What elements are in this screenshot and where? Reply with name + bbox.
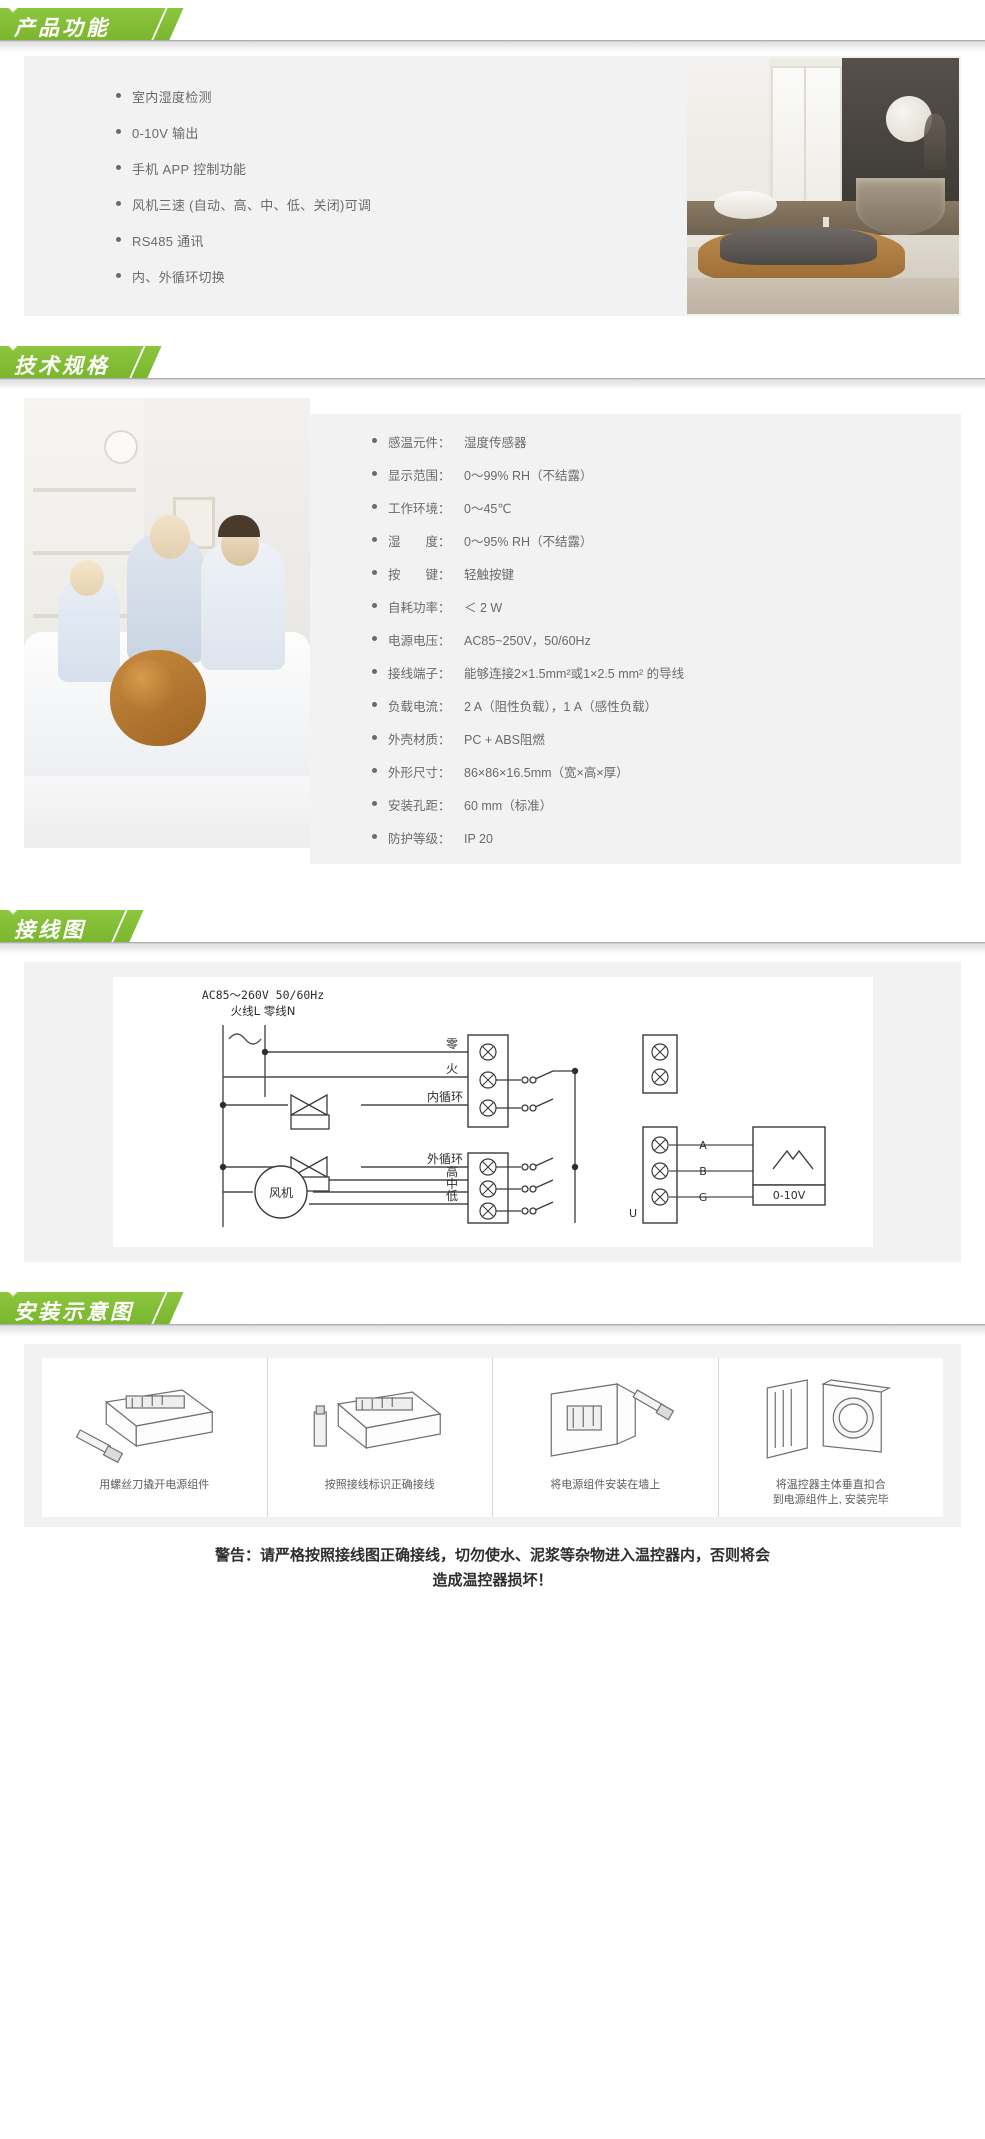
spec-key: 按 键： (388, 564, 464, 583)
spec-value: 轻触按键 (464, 564, 514, 583)
list-item: 风机三速 (自动、高、中、低、关闭)可调 (116, 195, 687, 214)
spec-key: 自耗功率： (388, 597, 464, 616)
list-item: 0-10V 输出 (116, 123, 687, 142)
spec-value: IP 20 (464, 832, 493, 846)
wiring-section: 风机 (0, 948, 985, 1262)
label-null: 零 (445, 1037, 457, 1051)
install-step-1: 用螺丝刀撬开电源组件 (42, 1358, 268, 1517)
spec-key: 显示范围： (388, 465, 464, 484)
bathroom-photo (687, 58, 959, 314)
section-title: 安装示意图 (14, 1296, 134, 1326)
spec-row: 电源电压：AC85~250V，50/60Hz (372, 630, 961, 649)
terminal-u-label: U (628, 1207, 636, 1220)
list-item: 手机 APP 控制功能 (116, 159, 687, 178)
spec-row: 外壳材质：PC + ABS阻燃 (372, 729, 961, 748)
features-card: 室内湿度检测 0-10V 输出 手机 APP 控制功能 风机三速 (自动、高、中… (24, 56, 961, 316)
section-banner-install: 安装示意图 (0, 1284, 985, 1330)
spec-value: 0～99% RH（不结露） (464, 465, 593, 484)
spec-key: 外壳材质： (388, 729, 464, 748)
features-section: 室内湿度检测 0-10V 输出 手机 APP 控制功能 风机三速 (自动、高、中… (0, 46, 985, 316)
spec-value: AC85~250V，50/60Hz (464, 630, 591, 649)
spec-row: 工作环境：0～45℃ (372, 498, 961, 517)
spec-row: 接线端子：能够连接2×1.5mm²或1×2.5 mm² 的导线 (372, 663, 961, 682)
spec-key: 防护等级： (388, 828, 464, 847)
install-step-caption: 用螺丝刀撬开电源组件 (48, 1474, 261, 1497)
section-title: 技术规格 (14, 350, 110, 380)
spec-value: PC + ABS阻燃 (464, 729, 545, 748)
section-title: 接线图 (14, 914, 86, 944)
spec-value: 湿度传感器 (464, 432, 527, 451)
banner-rule-shadow (0, 43, 985, 52)
label-live: 火 (445, 1062, 457, 1076)
install-step-caption: 按照接线标识正确接线 (274, 1474, 487, 1497)
step1-illustration (48, 1368, 261, 1468)
spec-row: 负载电流：2 A（阻性负载），1 A（感性负载） (372, 696, 961, 715)
spec-row: 自耗功率：＜ 2 W (372, 597, 961, 616)
spec-key: 安装孔距： (388, 795, 464, 814)
warning-line-1: 警告：请严格按照接线图正确接线，切勿使水、泥浆等杂物进入温控器内，否则将会 (40, 1543, 945, 1569)
spec-value: 2 A（阻性负载），1 A（感性负载） (464, 696, 657, 715)
spec-key: 电源电压： (388, 630, 464, 649)
wiring-diagram: 风机 (113, 977, 873, 1247)
spec-row: 外形尺寸：86×86×16.5mm（宽×高×厚） (372, 762, 961, 781)
label-outer-loop: 外循环 (426, 1152, 462, 1166)
terminal-a-label: A (699, 1139, 707, 1152)
step4-illustration (725, 1368, 938, 1468)
list-item: RS485 通讯 (116, 231, 687, 250)
install-step-3: 将电源组件安装在墙上 (493, 1358, 719, 1517)
spec-key: 感温元件： (388, 432, 464, 451)
wiring-schematic-svg: 风机 (113, 977, 873, 1247)
spec-value: 0～45℃ (464, 498, 511, 517)
list-item: 室内湿度检测 (116, 87, 687, 106)
spec-value: 86×86×16.5mm（宽×高×厚） (464, 762, 629, 781)
fan-label: 风机 (268, 1186, 292, 1200)
product-spec-page: 产品功能 室内湿度检测 0-10V 输出 手机 APP 控制功能 风机三速 (自… (0, 0, 985, 1616)
specs-card: 感温元件：湿度传感器 显示范围：0～99% RH（不结露） 工作环境：0～45℃… (24, 398, 961, 880)
spec-row: 安装孔距：60 mm（标准） (372, 795, 961, 814)
warning-text: 警告：请严格按照接线图正确接线，切勿使水、泥浆等杂物进入温控器内，否则将会 造成… (0, 1527, 985, 1616)
spec-value: 能够连接2×1.5mm²或1×2.5 mm² 的导线 (464, 663, 684, 682)
spec-key: 湿 度： (388, 531, 464, 550)
supply-spec-line2: 火线L 零线N (230, 1004, 295, 1018)
section-title: 产品功能 (14, 12, 110, 42)
spec-row: 湿 度：0～95% RH（不结露） (372, 531, 961, 550)
specs-list: 感温元件：湿度传感器 显示范围：0～99% RH（不结露） 工作环境：0～45℃… (310, 414, 961, 864)
section-banner-features: 产品功能 (0, 0, 985, 46)
spec-key: 负载电流： (388, 696, 464, 715)
family-photo (24, 398, 310, 848)
module-label: 0-10V (772, 1189, 805, 1202)
install-step-caption: 将电源组件安装在墙上 (499, 1474, 712, 1497)
features-list: 室内湿度检测 0-10V 输出 手机 APP 控制功能 风机三速 (自动、高、中… (24, 72, 687, 300)
install-card: 用螺丝刀撬开电源组件 (24, 1344, 961, 1527)
label-inner-loop: 内循环 (426, 1090, 462, 1104)
spec-row: 按 键：轻触按键 (372, 564, 961, 583)
spec-row: 显示范围：0～99% RH（不结露） (372, 465, 961, 484)
list-item: 内、外循环切换 (116, 267, 687, 286)
supply-spec-line1: AC85～260V 50/60Hz (201, 988, 323, 1002)
install-steps-grid: 用螺丝刀撬开电源组件 (42, 1358, 943, 1517)
install-step-4: 将温控器主体垂直扣合 到电源组件上, 安装完毕 (719, 1358, 944, 1517)
step3-illustration (499, 1368, 712, 1468)
spec-key: 接线端子： (388, 663, 464, 682)
spec-value: ＜ 2 W (464, 597, 502, 616)
terminal-g-label: G (698, 1191, 707, 1204)
terminal-b-label: B (699, 1165, 707, 1178)
spec-value: 60 mm（标准） (464, 795, 552, 814)
label-speed-low: 低 (445, 1189, 457, 1203)
section-banner-wiring: 接线图 (0, 902, 985, 948)
step2-illustration (274, 1368, 487, 1468)
specs-section: 感温元件：湿度传感器 显示范围：0～99% RH（不结露） 工作环境：0～45℃… (0, 384, 985, 880)
spec-row: 防护等级：IP 20 (372, 828, 961, 847)
warning-line-2: 造成温控器损坏！ (40, 1568, 945, 1594)
section-banner-specs: 技术规格 (0, 338, 985, 384)
spec-key: 外形尺寸： (388, 762, 464, 781)
wiring-card: 风机 (24, 962, 961, 1262)
install-section: 用螺丝刀撬开电源组件 (0, 1330, 985, 1527)
install-step-caption: 将温控器主体垂直扣合 到电源组件上, 安装完毕 (725, 1474, 938, 1513)
spec-key: 工作环境： (388, 498, 464, 517)
install-step-2: 按照接线标识正确接线 (268, 1358, 494, 1517)
spec-value: 0～95% RH（不结露） (464, 531, 593, 550)
spec-row: 感温元件：湿度传感器 (372, 432, 961, 451)
